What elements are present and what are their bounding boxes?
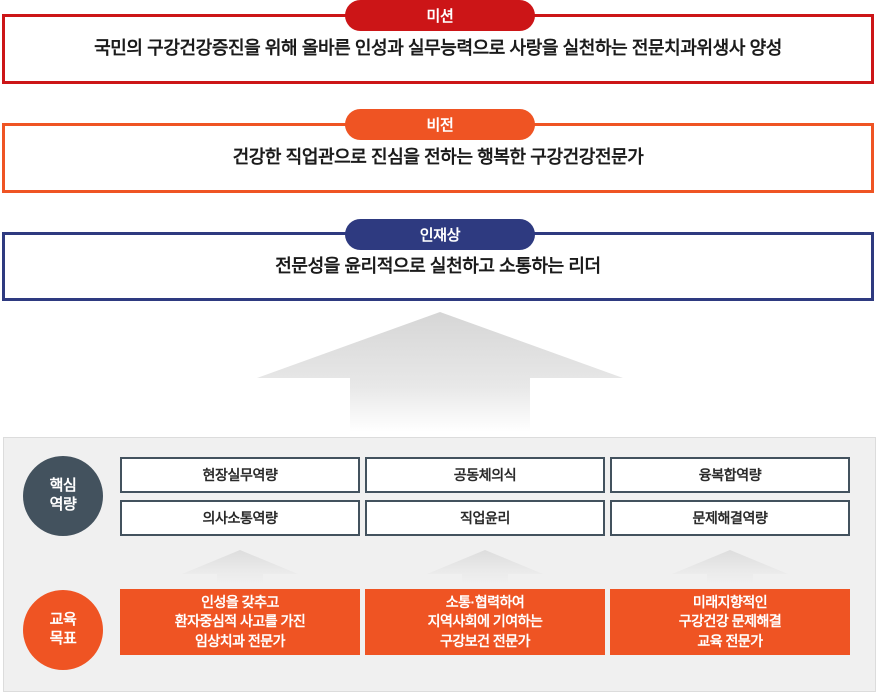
competency-box[interactable]: 직업윤리 xyxy=(365,500,605,536)
vision-label-text: 비전 xyxy=(426,114,453,135)
competency-column: 융복합역량 문제해결역량 xyxy=(610,457,850,536)
talent-label-text: 인재상 xyxy=(420,224,461,245)
education-goal-line: 환자중심적 사고를 가진 xyxy=(175,612,306,632)
vision-statement-text: 건강한 직업관으로 진심을 전하는 행복한 구강건강전문가 xyxy=(233,146,644,169)
education-goal-line: 인성을 갖추고 xyxy=(175,593,306,613)
education-goal-line: 구강건강 문제해결 xyxy=(679,612,781,632)
core-competency-badge-line1: 핵심 xyxy=(50,477,77,496)
education-goal-badge: 교육 목표 xyxy=(23,590,103,670)
up-arrow-icon xyxy=(426,548,544,584)
education-goal-badge-line2: 목표 xyxy=(50,630,77,649)
mission-label-text: 미션 xyxy=(426,5,453,26)
competency-box[interactable]: 의사소통역량 xyxy=(120,500,360,536)
talent-label-pill: 인재상 xyxy=(345,219,535,250)
education-goal-line: 구강보건 전문가 xyxy=(428,632,543,652)
education-goal-box[interactable]: 인성을 갖추고 환자중심적 사고를 가진 임상치과 전문가 xyxy=(120,589,360,655)
core-competency-badge-line2: 역량 xyxy=(50,496,77,515)
education-goal-line: 교육 전문가 xyxy=(679,632,781,652)
education-goal-line: 미래지향적인 xyxy=(679,593,781,613)
up-arrow-icon xyxy=(255,310,625,432)
mission-statement-text: 국민의 구강건강증진을 위해 올바른 인성과 실무능력으로 사랑을 실천하는 전… xyxy=(94,37,782,60)
up-arrow-icon xyxy=(671,548,789,584)
competency-column: 공동체의식 직업윤리 xyxy=(365,457,605,536)
competency-box[interactable]: 현장실무역량 xyxy=(120,457,360,493)
up-arrow-icon xyxy=(181,548,299,584)
competency-column: 현장실무역량 의사소통역량 xyxy=(120,457,360,536)
competency-box[interactable]: 융복합역량 xyxy=(610,457,850,493)
education-goal-line: 임상치과 전문가 xyxy=(175,632,306,652)
mission-label-pill: 미션 xyxy=(345,0,535,31)
education-goal-badge-line1: 교육 xyxy=(50,611,77,630)
competency-box[interactable]: 문제해결역량 xyxy=(610,500,850,536)
core-competency-badge: 핵심 역량 xyxy=(23,456,103,536)
vision-label-pill: 비전 xyxy=(345,109,535,140)
talent-statement-text: 전문성을 윤리적으로 실천하고 소통하는 리더 xyxy=(275,255,600,278)
competency-box[interactable]: 공동체의식 xyxy=(365,457,605,493)
competency-goals-panel: 핵심 역량 현장실무역량 의사소통역량 공동체의식 직업윤리 융복합역량 문제해… xyxy=(3,437,876,692)
education-goal-line: 소통·협력하여 xyxy=(428,593,543,613)
education-goal-box[interactable]: 소통·협력하여 지역사회에 기여하는 구강보건 전문가 xyxy=(365,589,605,655)
education-goal-box[interactable]: 미래지향적인 구강건강 문제해결 교육 전문가 xyxy=(610,589,850,655)
education-goal-line: 지역사회에 기여하는 xyxy=(428,612,543,632)
